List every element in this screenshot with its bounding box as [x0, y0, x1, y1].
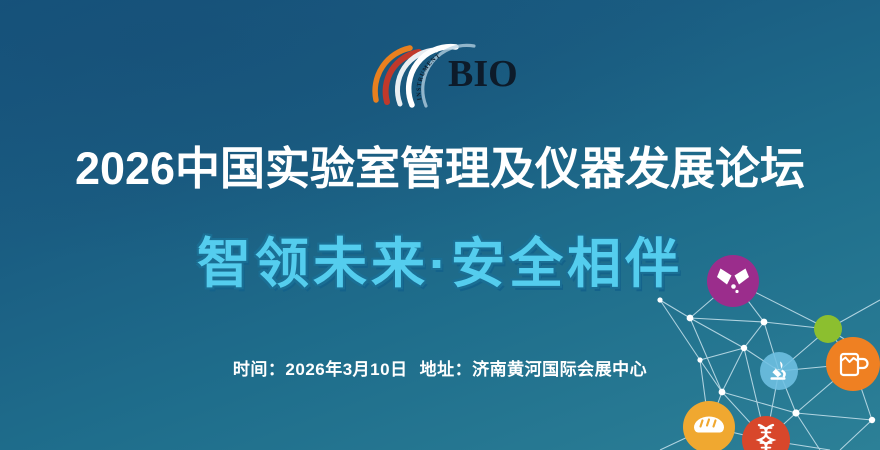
green-dot [814, 315, 842, 343]
event-banner: INSTRUMENTATION BIO 2026中国实验室管理及仪器发展论坛 智… [0, 0, 880, 450]
bread-icon [683, 401, 735, 450]
beaker-icon [826, 337, 880, 391]
microscope-icon [760, 352, 798, 390]
logo-wordmark: BIO [448, 53, 518, 95]
pill-icon [707, 255, 759, 307]
bio-logo: INSTRUMENTATION BIO [370, 42, 530, 108]
